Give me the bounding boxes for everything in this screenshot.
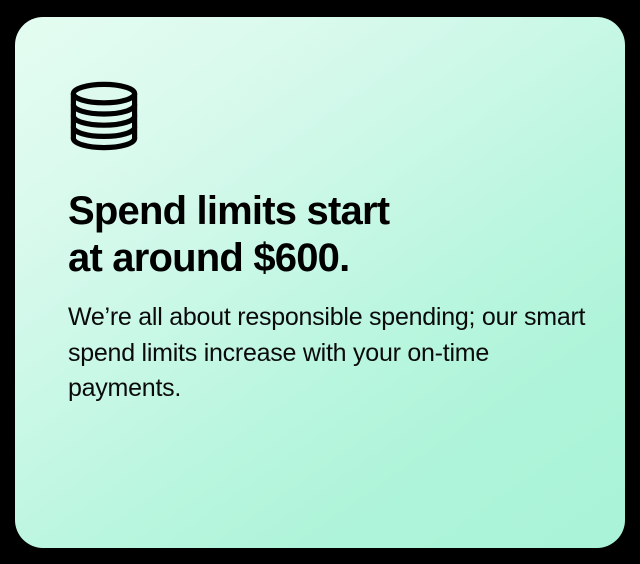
card-content: Spend limits start at around $600. We’re… [68, 80, 601, 407]
page-background: Spend limits start at around $600. We’re… [0, 0, 640, 564]
spend-limits-feature-card: Spend limits start at around $600. We’re… [15, 17, 625, 548]
card-description: We’re all about responsible spending; ou… [68, 300, 588, 407]
page-title: Spend limits start at around $600. [68, 188, 601, 282]
coin-stack-icon [68, 80, 140, 152]
